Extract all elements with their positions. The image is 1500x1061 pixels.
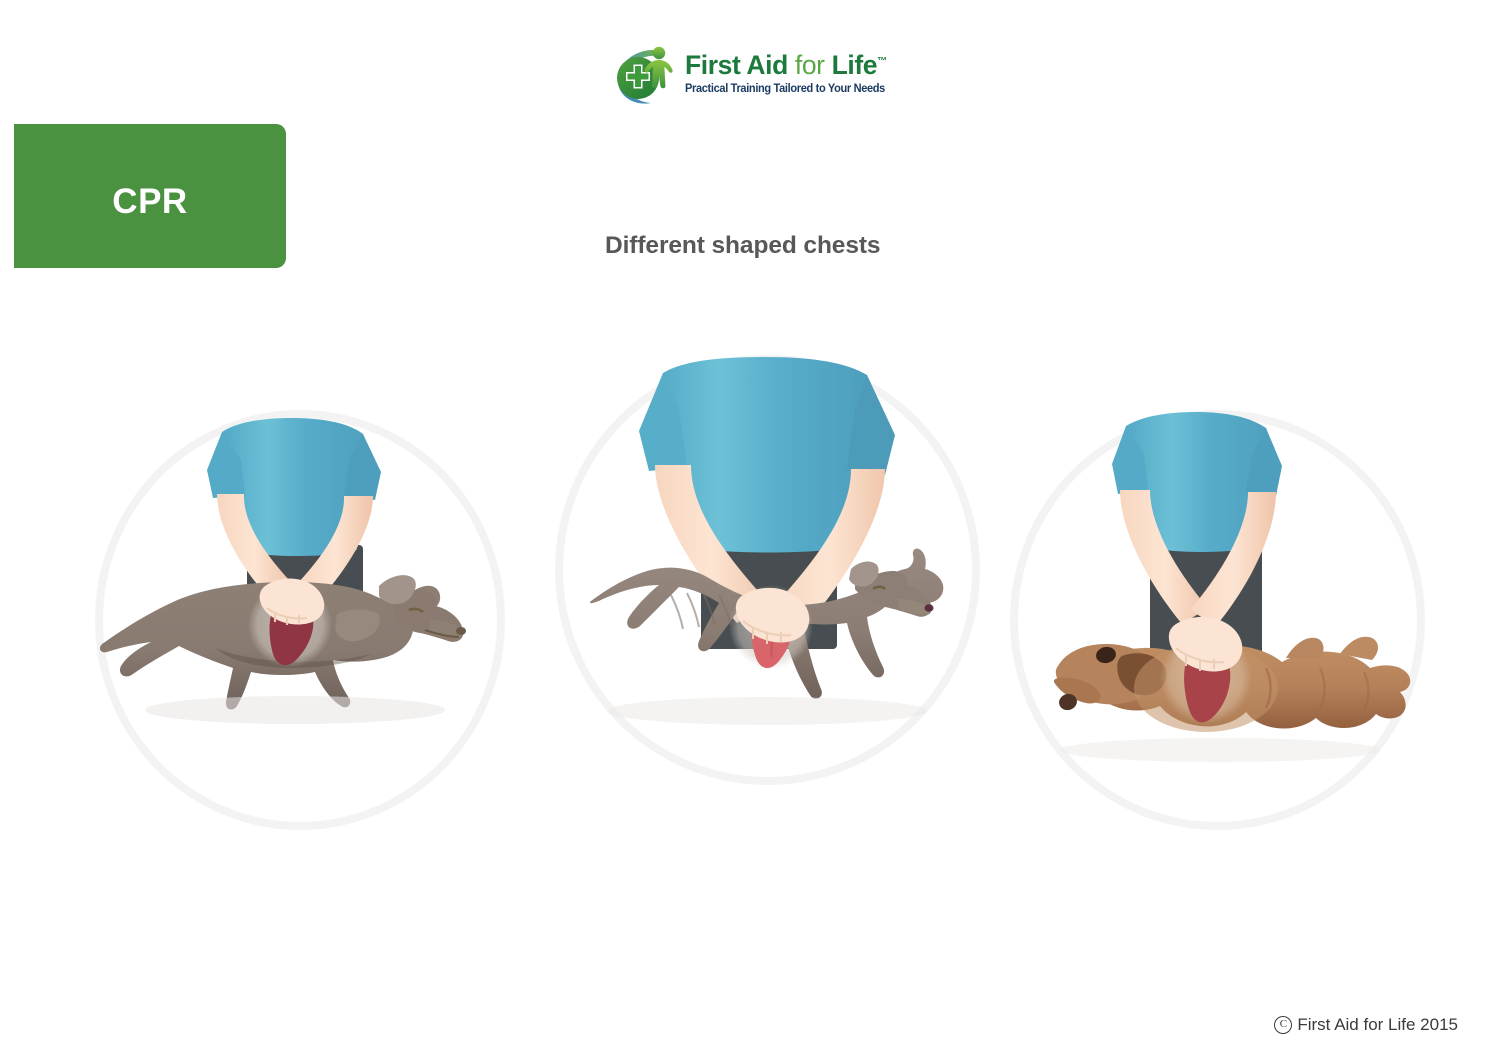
cpr-badge-label: CPR [112, 170, 187, 222]
copyright-icon: C [1274, 1016, 1292, 1034]
brand-logo: First Aid for Life™ Practical Training T… [612, 42, 902, 108]
copyright-text: First Aid for Life 2015 [1297, 1015, 1458, 1035]
illustration-panel-barrel-chest [1010, 410, 1425, 830]
illustration-panel-narrow-chest [555, 355, 980, 785]
copyright-notice: C First Aid for Life 2015 [1274, 1015, 1458, 1035]
brand-name-part1: First Aid [685, 50, 788, 80]
brand-wordmark: First Aid for Life™ Practical Training T… [685, 42, 896, 95]
cpr-on-narrow-chest-dog-illustration [555, 355, 980, 785]
trademark-symbol: ™ [877, 56, 887, 67]
cpr-section-badge: CPR [14, 124, 286, 268]
cpr-on-medium-chest-dog-illustration [95, 410, 505, 830]
first-aid-cross-icon [612, 42, 682, 108]
illustration-panel-medium-chest [95, 410, 505, 830]
brand-name-part2: for [795, 50, 825, 80]
cpr-on-barrel-chest-dog-illustration [1010, 410, 1425, 830]
brand-name-part3: Life [832, 50, 878, 80]
page-title: Different shaped chests [605, 232, 880, 260]
brand-tagline: Practical Training Tailored to Your Need… [685, 82, 885, 95]
